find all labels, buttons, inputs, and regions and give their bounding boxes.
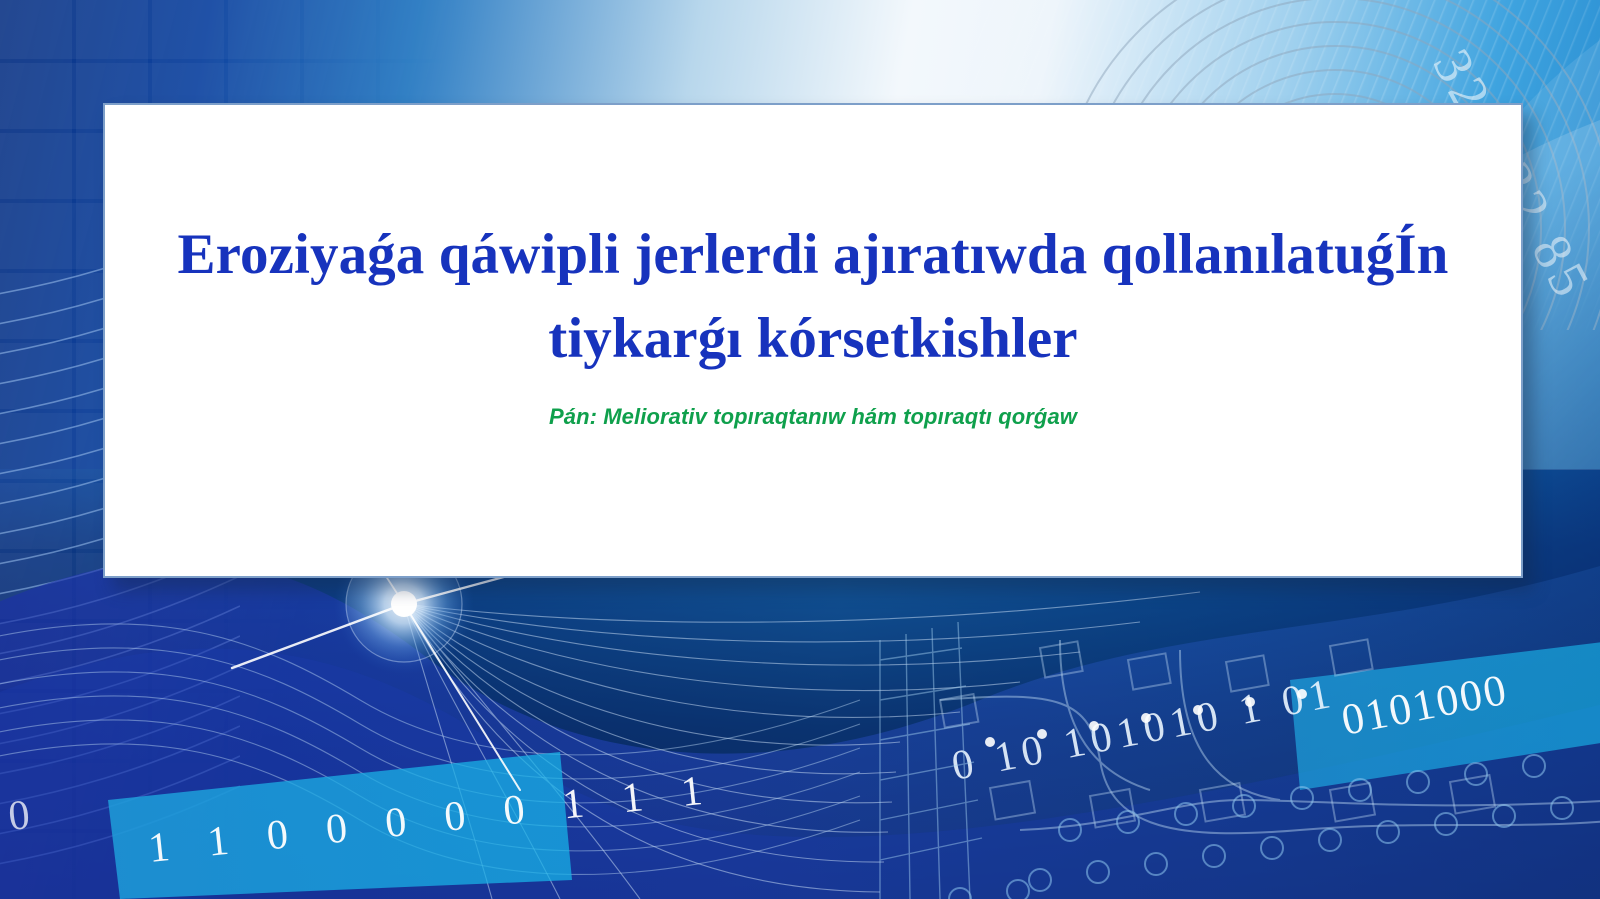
title-line-1: Eroziyaǵa qáwipli jerlerdi ajıratıwda bbox=[178, 223, 1088, 286]
presentation-slide: 321732 85 bbox=[0, 0, 1600, 899]
page-title: Eroziyaǵa qáwipli jerlerdi ajıratıwda qo… bbox=[105, 105, 1521, 382]
title-card: Eroziyaǵa qáwipli jerlerdi ajıratıwda qo… bbox=[103, 103, 1523, 578]
slide-subtitle: Pán: Meliorativ topıraqtanıw hám topıraq… bbox=[105, 382, 1521, 430]
